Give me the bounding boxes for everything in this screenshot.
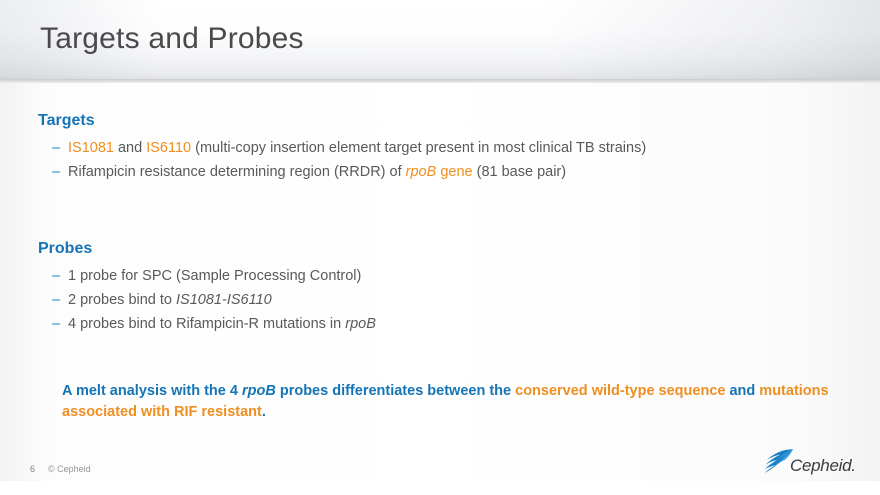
bullet-dash: – (52, 160, 60, 184)
bullet-text-segment: IS6110 (146, 140, 191, 156)
bullet-dash: – (52, 136, 60, 160)
bullet-item: –1 probe for SPC (Sample Processing Cont… (38, 264, 376, 288)
footer-page-number: 6 (30, 464, 35, 474)
slide: Targets and Probes Targets –IS1081 and I… (0, 0, 880, 495)
bullet-text-segment: 4 probes bind to Rifampicin-R mutations … (68, 316, 345, 332)
bullet-text-segment: rpoB (406, 164, 437, 180)
slide-footer: 6 © Cepheid (0, 460, 880, 481)
bullet-text-segment: rpoB (345, 316, 376, 332)
bullet-text-segment: 1 probe for SPC (Sample Processing Contr… (68, 268, 361, 284)
bullet-text-segment: (multi-copy insertion element target pre… (191, 140, 646, 156)
conclusion-segment: A melt analysis with the 4 (62, 383, 242, 399)
conclusion-segment: . (262, 404, 266, 420)
bullet-text-segment: IS1081-IS6110 (176, 292, 272, 308)
bullet-text-segment: gene (436, 164, 472, 180)
bullet-dash: – (52, 312, 60, 336)
footer-copyright: © Cepheid (48, 464, 91, 474)
section-heading-probes: Probes (38, 240, 376, 258)
conclusion-segment: conserved wild-type sequence (515, 383, 725, 399)
bullet-item: –IS1081 and IS6110 (multi-copy insertion… (38, 136, 646, 160)
section-targets: Targets –IS1081 and IS6110 (multi-copy i… (38, 112, 646, 184)
section-probes: Probes –1 probe for SPC (Sample Processi… (38, 240, 376, 336)
conclusion-statement: A melt analysis with the 4 rpoB probes d… (62, 381, 852, 423)
bullet-dash: – (52, 288, 60, 312)
conclusion-segment: rpoB (242, 383, 276, 399)
conclusion-segment: and (725, 383, 759, 399)
bullet-text-segment: IS1081 (68, 140, 114, 156)
targets-bullet-list: –IS1081 and IS6110 (multi-copy insertion… (38, 136, 646, 184)
cepheid-logo: Cepheid. (762, 448, 870, 478)
bullet-text-segment: and (114, 140, 146, 156)
page-title: Targets and Probes (40, 22, 304, 56)
probes-bullet-list: –1 probe for SPC (Sample Processing Cont… (38, 264, 376, 336)
bullet-text-segment: (81 base pair) (473, 164, 567, 180)
bullet-text-segment: Rifampicin resistance determining region… (68, 164, 406, 180)
bullet-item: –Rifampicin resistance determining regio… (38, 160, 646, 184)
conclusion-segment: probes differentiates between the (276, 383, 515, 399)
bullet-item: –4 probes bind to Rifampicin-R mutations… (38, 312, 376, 336)
bullet-dash: – (52, 264, 60, 288)
section-heading-targets: Targets (38, 112, 646, 130)
cepheid-wordmark: Cepheid. (790, 456, 856, 476)
bullet-item: –2 probes bind to IS1081-IS6110 (38, 288, 376, 312)
bullet-text-segment: 2 probes bind to (68, 292, 176, 308)
